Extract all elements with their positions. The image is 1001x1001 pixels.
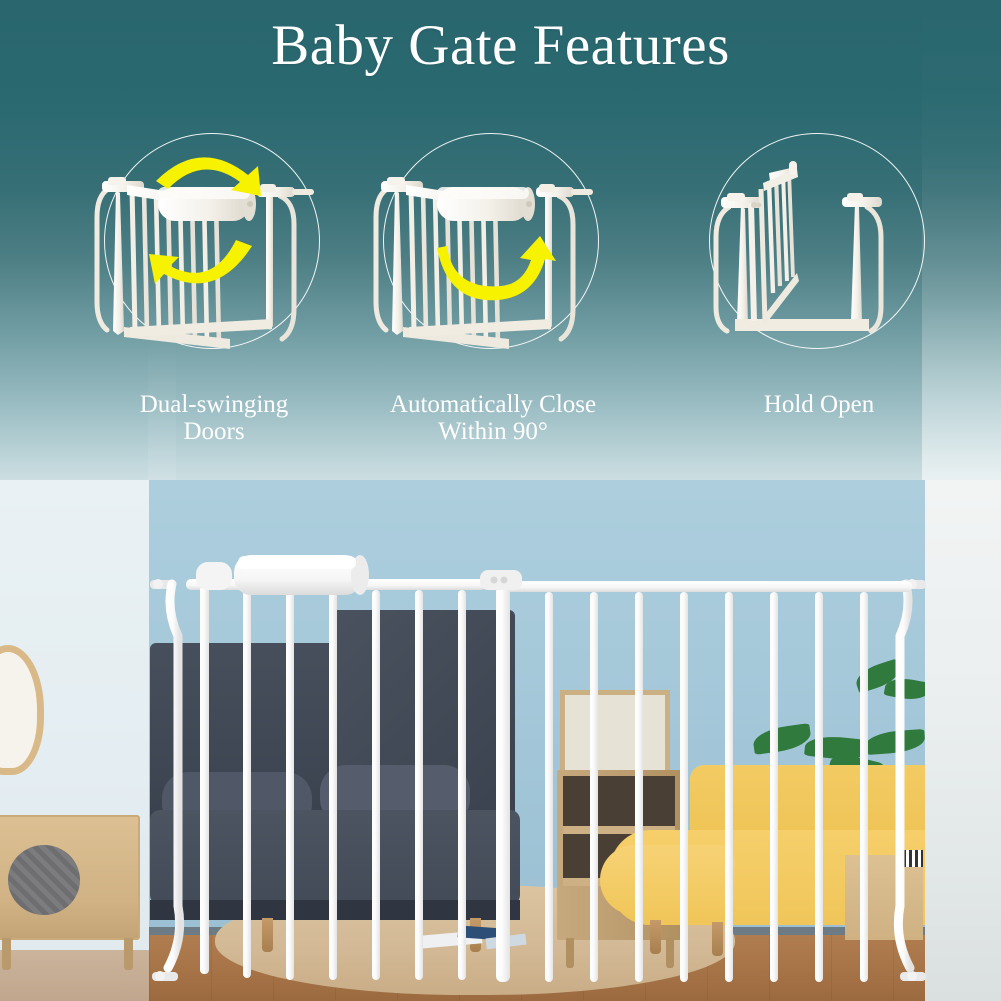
gate-extension-bars: [545, 592, 868, 982]
feature-caption-line1: Automatically Close: [390, 391, 596, 418]
gate-door-bars: [200, 586, 466, 980]
feature-caption-line1: Hold Open: [764, 391, 874, 418]
feature-caption-line1: Dual-swinging: [140, 391, 289, 418]
gate-left-frame: [168, 584, 180, 968]
feature-caption-line2: Within 90°: [438, 418, 548, 445]
rotation-arrow-bottom: [149, 240, 252, 284]
page-title: Baby Gate Features: [0, 12, 1001, 80]
baby-gate-dual-swing-icon: [94, 141, 330, 371]
gate-right-frame: [898, 584, 910, 968]
gate-latch-mechanism: [480, 570, 522, 590]
room-scene-photo: [0, 480, 1001, 1001]
gate-top-rail-right: [500, 581, 912, 592]
gate-auto-close-cylinder: [196, 555, 369, 595]
feature-caption-line2: Doors: [183, 418, 244, 445]
feature-caption-2: Automatically Close Within 90°: [343, 391, 643, 445]
baby-gate-hold-open-icon: [699, 141, 935, 371]
gate-latch-post: [496, 586, 510, 982]
feature-caption-3: Hold Open: [669, 391, 969, 418]
installed-baby-gate: [0, 480, 1001, 1001]
feature-caption-1: Dual-swinging Doors: [64, 391, 364, 445]
feature-dual-swinging-doors: Dual-swinging Doors: [104, 133, 324, 453]
baby-gate-auto-close-icon: [373, 141, 609, 371]
feature-automatically-close: Automatically Close Within 90°: [383, 133, 603, 453]
baby-gate-features-poster: Baby Gate Features: [0, 0, 1001, 1001]
feature-hold-open: Hold Open: [709, 133, 929, 453]
